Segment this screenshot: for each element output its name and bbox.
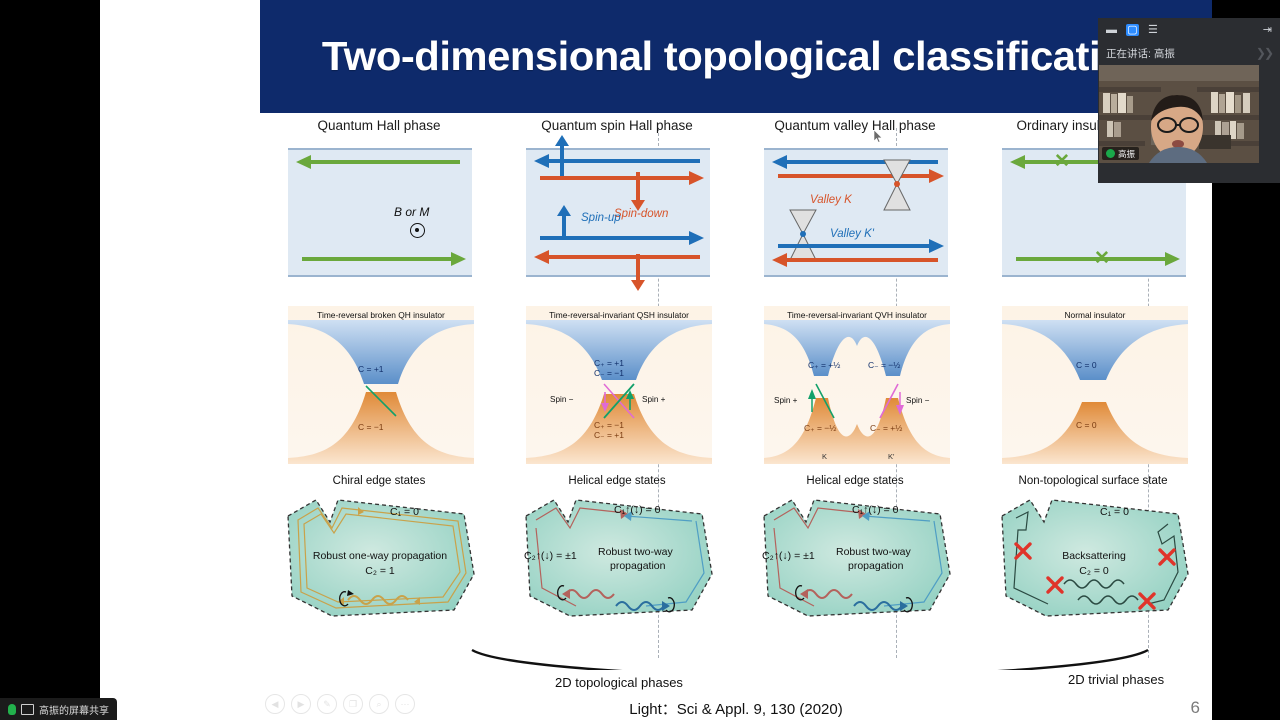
- qvh-bot-orange-line: [786, 258, 938, 262]
- slide-toolbar[interactable]: ◀ ▶ ✎ ❐ ⌕ ⋯: [265, 694, 415, 714]
- band-upper-chern-2b: C₋ = −½: [868, 360, 900, 371]
- chevron-double-icon[interactable]: ❯❯: [1256, 46, 1272, 60]
- band-upper-chern-1b: C₋ = −1: [594, 368, 624, 379]
- blocked-x-bottom: ✕: [1094, 249, 1110, 268]
- phase-grid: Quantum Hall phase B or M Time-reversal …: [260, 118, 1212, 658]
- screen-icon: [21, 704, 34, 715]
- shared-screen-frame: Two-dimensional topological classificati…: [100, 0, 1112, 720]
- more-icon[interactable]: ⋯: [395, 694, 415, 714]
- qvh-top-blue-line: [786, 160, 938, 164]
- qsh-top-spin-up-head: [555, 135, 569, 146]
- band-box-3: Normal insulator C = 0 C = 0: [1002, 306, 1188, 464]
- screen-share-badge[interactable]: 高振的屏幕共享: [0, 698, 117, 720]
- presentation-slide: Two-dimensional topological classificati…: [260, 0, 1212, 720]
- transport-box-0: B or M: [288, 148, 472, 277]
- band-structure-svg-3: [1002, 306, 1188, 464]
- video-panel[interactable]: ▬ ▢ ☰ ⇥ 正在讲话: 高振 ❯❯: [1098, 18, 1280, 183]
- expand-icon[interactable]: ⇥: [1263, 25, 1272, 36]
- k-point-label: K: [822, 452, 827, 461]
- copy-icon[interactable]: ❐: [343, 694, 363, 714]
- screen-root: Two-dimensional topological classificati…: [0, 0, 1280, 720]
- qsh-top-blue-line: [548, 159, 700, 163]
- edge-box-2: C₁↑(↓) = 0 C₂↑(↓) = ±1 Robust two-way pr…: [744, 488, 966, 628]
- band-box-0: Time-reversal broken QH insulator: [288, 306, 474, 464]
- column-ordinary-insulating: Ordinary insulating phase ✕ ✕ Normal ins…: [974, 118, 1212, 658]
- band-lower-chern-2b: C₋ = +½: [870, 423, 902, 434]
- prev-slide-icon[interactable]: ◀: [265, 694, 285, 714]
- footer-topological-label: 2D topological phases: [555, 675, 683, 690]
- list-icon[interactable]: ☰: [1148, 25, 1158, 36]
- spin-minus-label-1: Spin −: [550, 395, 573, 404]
- spin-plus-label-2: Spin +: [774, 396, 797, 405]
- edge-arrow-top-head-0: [296, 155, 311, 169]
- qsh-bot-spin-up-head: [557, 205, 571, 216]
- spin-minus-label-2: Spin −: [906, 396, 929, 405]
- edge-text-3: Backsattering: [1006, 550, 1182, 562]
- slide-page-number: 6: [1191, 698, 1200, 718]
- edge-c1-0: C₁ = 0: [390, 506, 419, 518]
- edge-arrow-bottom-head-0: [451, 252, 466, 266]
- edge-arrow-top-line-0: [310, 160, 460, 164]
- band-lower-chern-0: C = −1: [358, 422, 384, 432]
- qsh-top-spin-down-line: [636, 172, 640, 202]
- band-upper-chern-3: C = 0: [1076, 360, 1097, 370]
- band-upper-chern-0: C = +1: [358, 364, 384, 374]
- edge-text-0: Robust one-way propagation: [292, 550, 468, 562]
- edge-caption-3: Non-topological surface state: [974, 475, 1212, 487]
- participant-name-badge: 高振: [1102, 147, 1139, 160]
- edge-text-1b: propagation: [610, 560, 665, 572]
- qsh-bot-down-head: [631, 280, 645, 291]
- band-lower-chern-3: C = 0: [1076, 420, 1097, 430]
- edge-arrow-bottom-line-0: [302, 257, 452, 261]
- column-header-2: Quantum valley Hall phase: [736, 118, 974, 133]
- edge-text-2a: Robust two-way: [836, 546, 911, 558]
- band-structure-svg-2: [764, 306, 950, 464]
- footer-trivial-label: 2D trivial phases: [1068, 672, 1164, 687]
- band-structure-svg-0: [288, 306, 474, 464]
- minimize-icon[interactable]: ▬: [1106, 25, 1117, 36]
- ord-bot-head: [1165, 252, 1180, 266]
- valley-k-cone: [880, 158, 914, 216]
- qsh-top-blue-head: [534, 154, 549, 168]
- field-label-0: B or M: [394, 205, 429, 219]
- qsh-top-orange-head: [689, 171, 704, 185]
- participant-name: 高振: [1118, 148, 1135, 160]
- mic-icon: [8, 704, 16, 715]
- microphone-icon: [1106, 149, 1115, 158]
- video-panel-titlebar[interactable]: ▬ ▢ ☰ ⇥: [1098, 18, 1280, 42]
- qvh-bot-orange-head: [772, 253, 787, 267]
- edge-c1-3: C₁ = 0: [1100, 506, 1129, 518]
- transport-box-2: Valley K Valley K': [764, 148, 948, 277]
- band-lower-chern-2a: C₊ = −½: [804, 423, 836, 434]
- band-upper-chern-2a: C₊ = +½: [808, 360, 840, 371]
- band-box-2: Time-reversal-invariant QVH insulator: [764, 306, 950, 464]
- qsh-bot-orange-line: [548, 255, 700, 259]
- pen-icon[interactable]: ✎: [317, 694, 337, 714]
- edge-c2-2: C₂↑(↓) = ±1: [762, 550, 815, 562]
- topological-brace: [470, 648, 1150, 670]
- qvh-top-orange-head: [929, 169, 944, 183]
- ord-top-head: [1010, 155, 1025, 169]
- page-title: Two-dimensional topological classificati…: [322, 33, 1150, 80]
- column-header-0: Quantum Hall phase: [260, 118, 498, 133]
- qsh-bot-down-line: [636, 254, 640, 282]
- edge-caption-1: Helical edge states: [498, 475, 736, 487]
- zoom-icon[interactable]: ⌕: [369, 694, 389, 714]
- column-header-1: Quantum spin Hall phase: [498, 118, 736, 133]
- edge-c2-3: C₂ = 0: [1006, 565, 1182, 577]
- band-lower-chern-1b: C₋ = +1: [594, 430, 624, 441]
- spin-plus-label-1: Spin +: [642, 395, 665, 404]
- edge-c1-2: C₁↑(↓) = 0: [852, 504, 898, 516]
- valley-k-label: Valley K: [810, 194, 852, 206]
- valley-kprime-label: Valley K': [830, 228, 874, 240]
- speaking-status: 正在讲话: 高振: [1098, 42, 1280, 65]
- kprime-point-label: K': [888, 452, 894, 461]
- band-box-1: Time-reversal-invariant QSH insulator: [526, 306, 712, 464]
- mouse-cursor: [874, 130, 883, 143]
- participant-video-tile[interactable]: 高振: [1099, 65, 1259, 163]
- spin-up-label: Spin-up: [581, 212, 621, 224]
- edge-caption-0: Chiral edge states: [260, 475, 498, 487]
- edge-box-1: C₁↑(↓) = 0 C₂↑(↓) = ±1 Robust two-way pr…: [506, 488, 728, 628]
- next-slide-icon[interactable]: ▶: [291, 694, 311, 714]
- maximize-icon[interactable]: ▢: [1126, 24, 1139, 36]
- edge-caption-2: Helical edge states: [736, 475, 974, 487]
- qvh-bot-blue-head: [929, 239, 944, 253]
- qsh-top-spin-up-line: [560, 142, 564, 176]
- qsh-bot-blue-head: [689, 231, 704, 245]
- edge-box-3: C₁ = 0 Backsattering C₂ = 0: [982, 488, 1204, 628]
- ord-bot-line: [1016, 257, 1166, 261]
- slide-title-bar: Two-dimensional topological classificati…: [260, 0, 1212, 113]
- edge-c2-0: C₂ = 1: [292, 565, 468, 577]
- blocked-x-top: ✕: [1054, 152, 1070, 171]
- qsh-top-orange-line: [540, 176, 690, 180]
- edge-box-0: C₁ = 0 Robust one-way propagation C₂ = 1: [268, 488, 490, 628]
- transport-box-1: Spin-down Spin-up: [526, 148, 710, 277]
- column-quantum-hall: Quantum Hall phase B or M Time-reversal …: [260, 118, 498, 658]
- qsh-bot-orange-head: [534, 250, 549, 264]
- screen-share-label: 高振的屏幕共享: [39, 702, 109, 717]
- edge-c2-1: C₂↑(↓) = ±1: [524, 550, 577, 562]
- edge-text-1a: Robust two-way: [598, 546, 673, 558]
- field-direction-icon-0: [410, 223, 425, 238]
- edge-c1-1: C₁↑(↓) = 0: [614, 504, 660, 516]
- qvh-top-blue-head: [772, 155, 787, 169]
- column-quantum-valley-hall: Quantum valley Hall phase Valley K: [736, 118, 974, 658]
- column-quantum-spin-hall: Quantum spin Hall phase Spin-down Sp: [498, 118, 736, 658]
- edge-text-2b: propagation: [848, 560, 903, 572]
- qvh-bot-blue-line: [778, 244, 930, 248]
- spin-down-label: Spin-down: [614, 208, 668, 220]
- qsh-bot-spin-up-line: [562, 212, 566, 240]
